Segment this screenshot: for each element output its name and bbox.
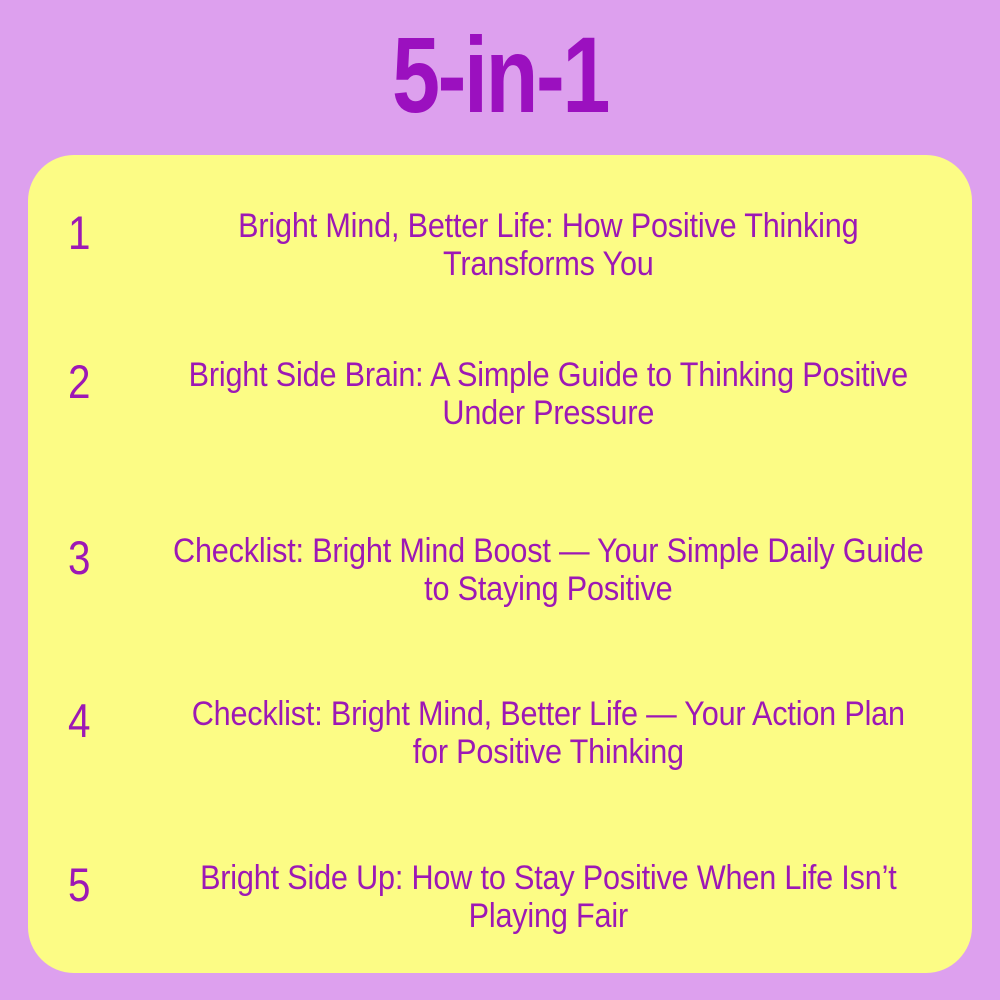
list-item-title: Bright Side Up: How to Stay Positive Whe… (172, 859, 930, 935)
page-title: 5-in-1 (100, 20, 900, 130)
list-item[interactable]: 2 Bright Side Brain: A Simple Guide to T… (28, 356, 972, 476)
list-item[interactable]: 3 Checklist: Bright Mind Boost — Your Si… (28, 532, 972, 652)
list-item-number: 2 (68, 356, 121, 408)
poster-canvas: 5-in-1 1 Bright Mind, Better Life: How P… (0, 0, 1000, 1000)
list-item-title: Bright Mind, Better Life: How Positive T… (172, 207, 930, 283)
list-item-number: 4 (68, 695, 121, 747)
bundle-list-card: 1 Bright Mind, Better Life: How Positive… (28, 155, 972, 973)
list-item-title: Checklist: Bright Mind Boost — Your Simp… (172, 532, 930, 608)
list-item[interactable]: 1 Bright Mind, Better Life: How Positive… (28, 207, 972, 327)
list-item-number: 1 (68, 207, 121, 259)
list-item-title: Bright Side Brain: A Simple Guide to Thi… (172, 356, 930, 432)
list-item-title: Checklist: Bright Mind, Better Life — Yo… (172, 695, 930, 771)
list-item[interactable]: 4 Checklist: Bright Mind, Better Life — … (28, 695, 972, 815)
list-item-number: 5 (68, 859, 121, 911)
bundle-list: 1 Bright Mind, Better Life: How Positive… (28, 155, 972, 973)
list-item-number: 3 (68, 532, 121, 584)
list-item[interactable]: 5 Bright Side Up: How to Stay Positive W… (28, 859, 972, 973)
